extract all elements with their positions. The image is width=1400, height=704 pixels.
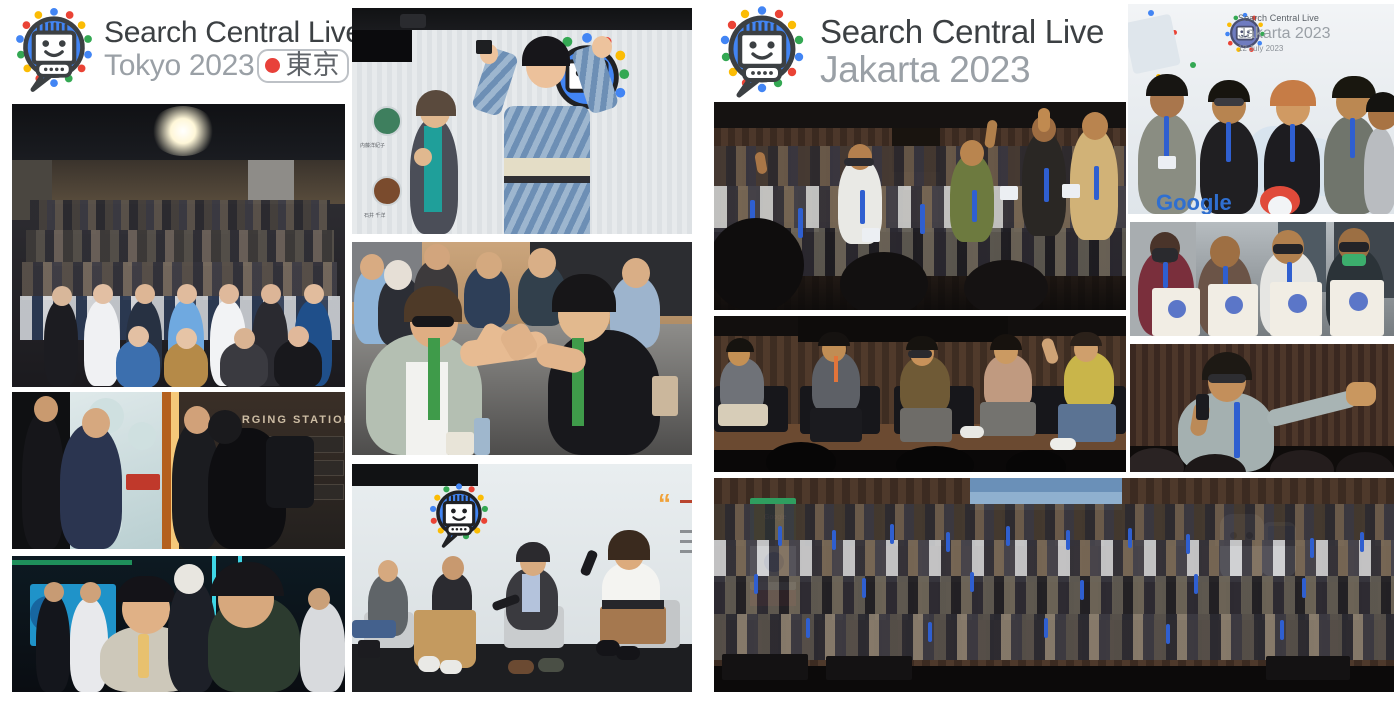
event-city-line: Jakarta 2023 <box>820 50 1030 90</box>
japan-flag-icon <box>265 58 280 73</box>
googlebot-mascot-icon <box>424 480 494 556</box>
locale-badge-japan: 東京 <box>257 49 349 83</box>
photo-jakarta-swag-bags <box>1130 222 1394 336</box>
photo-jakarta-backdrop-group: Search Central Live Jakarta 2023 12 July… <box>1128 4 1394 214</box>
photo-scene: Search Central Live Jakarta 2023 12 July… <box>1128 4 1394 214</box>
photo-scene: CHARGING STATION <box>12 392 345 549</box>
photo-scene: “ <box>352 464 692 692</box>
locale-badge-label: 東京 <box>285 52 339 79</box>
event-panel-jakarta: Search Central Live Jakarta 2023 <box>706 0 1400 704</box>
event-city-line: Tokyo 2023 <box>104 50 254 82</box>
googlebot-mascot-icon <box>8 4 100 96</box>
photo-scene <box>1130 222 1394 336</box>
event-city-row: Tokyo 2023 東京 <box>104 49 362 83</box>
photo-scene: 内藤洋紀子 石井 千洋 <box>352 8 692 234</box>
photo-scene <box>12 556 345 692</box>
event-city-row: Jakarta 2023 <box>820 50 1104 90</box>
photo-scene <box>352 242 692 455</box>
backdrop-date: 12 July 2023 <box>1238 44 1283 53</box>
backdrop-city-line: Jakarta 2023 <box>1238 25 1331 43</box>
foreground-google-wordmark: Google <box>1156 190 1232 214</box>
screen-quote-mark: “ <box>658 490 671 516</box>
photo-tokyo-charging-station: CHARGING STATION <box>12 392 345 549</box>
backdrop-brand-line: Search Central Live <box>1238 13 1319 23</box>
event-header-tokyo: Search Central Live Tokyo 2023 東京 <box>8 6 362 94</box>
photo-scene: Google <box>714 478 1394 692</box>
photo-tokyo-networking-drinks <box>12 556 345 692</box>
photo-jakarta-audience-question <box>1130 344 1394 472</box>
screen-speaker-name-1: 内藤洋紀子 <box>360 142 385 149</box>
googlebot-mascot-icon <box>712 2 812 102</box>
photo-tokyo-heart-hands <box>352 242 692 455</box>
event-title-block-jakarta: Search Central Live Jakarta 2023 <box>820 14 1104 90</box>
photo-scene <box>12 104 345 387</box>
photo-tokyo-audience-group <box>12 104 345 387</box>
event-title-block-tokyo: Search Central Live Tokyo 2023 東京 <box>104 17 362 83</box>
photo-tokyo-stage-yukata-speaker: 内藤洋紀子 石井 千洋 <box>352 8 692 234</box>
photo-jakarta-audience-waving <box>714 102 1126 310</box>
photo-scene <box>714 316 1126 472</box>
event-brand-line: Search Central Live <box>820 14 1104 50</box>
event-panel-tokyo: Search Central Live Tokyo 2023 東京 <box>0 0 700 704</box>
photo-jakarta-group-photo: Google <box>714 478 1394 692</box>
photo-scene <box>1130 344 1394 472</box>
photo-jakarta-panel-sofas <box>714 316 1126 472</box>
event-brand-line: Search Central Live <box>104 17 362 49</box>
screen-speaker-name-2: 石井 千洋 <box>364 212 385 219</box>
event-header-jakarta: Search Central Live Jakarta 2023 <box>712 4 1104 100</box>
photo-tokyo-panel-discussion: “ <box>352 464 692 692</box>
photo-scene <box>714 102 1126 310</box>
event-photo-collage: Search Central Live Tokyo 2023 東京 <box>0 0 1400 704</box>
